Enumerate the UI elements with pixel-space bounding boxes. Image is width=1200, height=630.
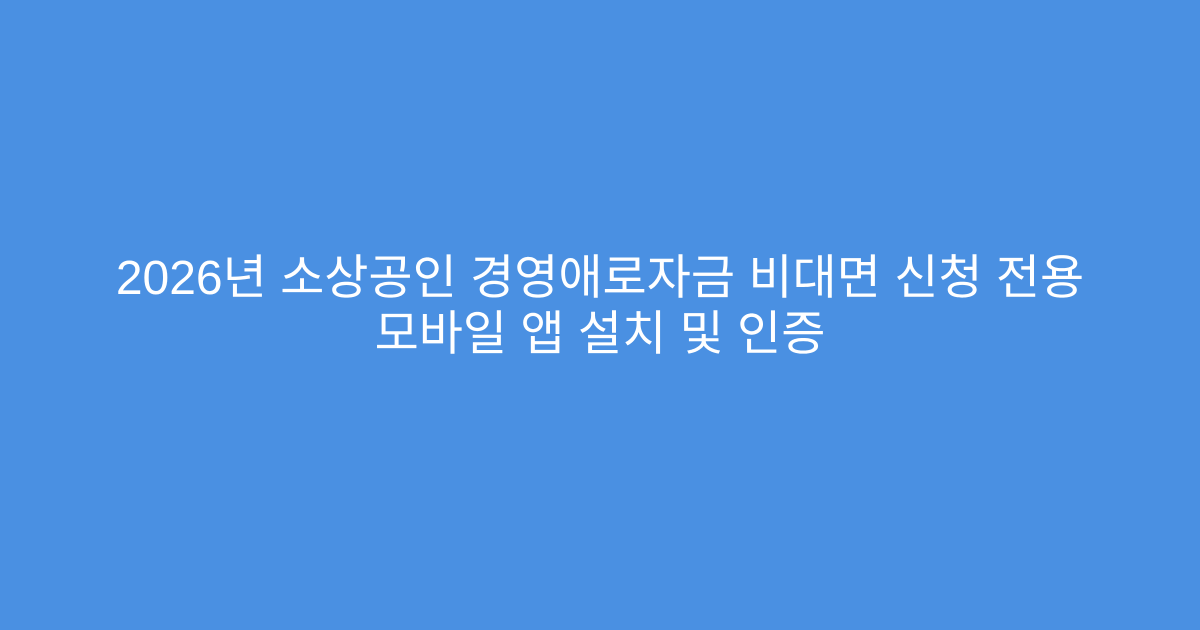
banner-card: 2026년 소상공인 경영애로자금 비대면 신청 전용 모바일 앱 설치 및 인… <box>0 0 1200 630</box>
title-line-1: 2026년 소상공인 경영애로자금 비대면 신청 전용 <box>70 251 1130 307</box>
page-title: 2026년 소상공인 경영애로자금 비대면 신청 전용 모바일 앱 설치 및 인… <box>70 251 1130 363</box>
title-line-2: 모바일 앱 설치 및 인증 <box>70 307 1130 363</box>
